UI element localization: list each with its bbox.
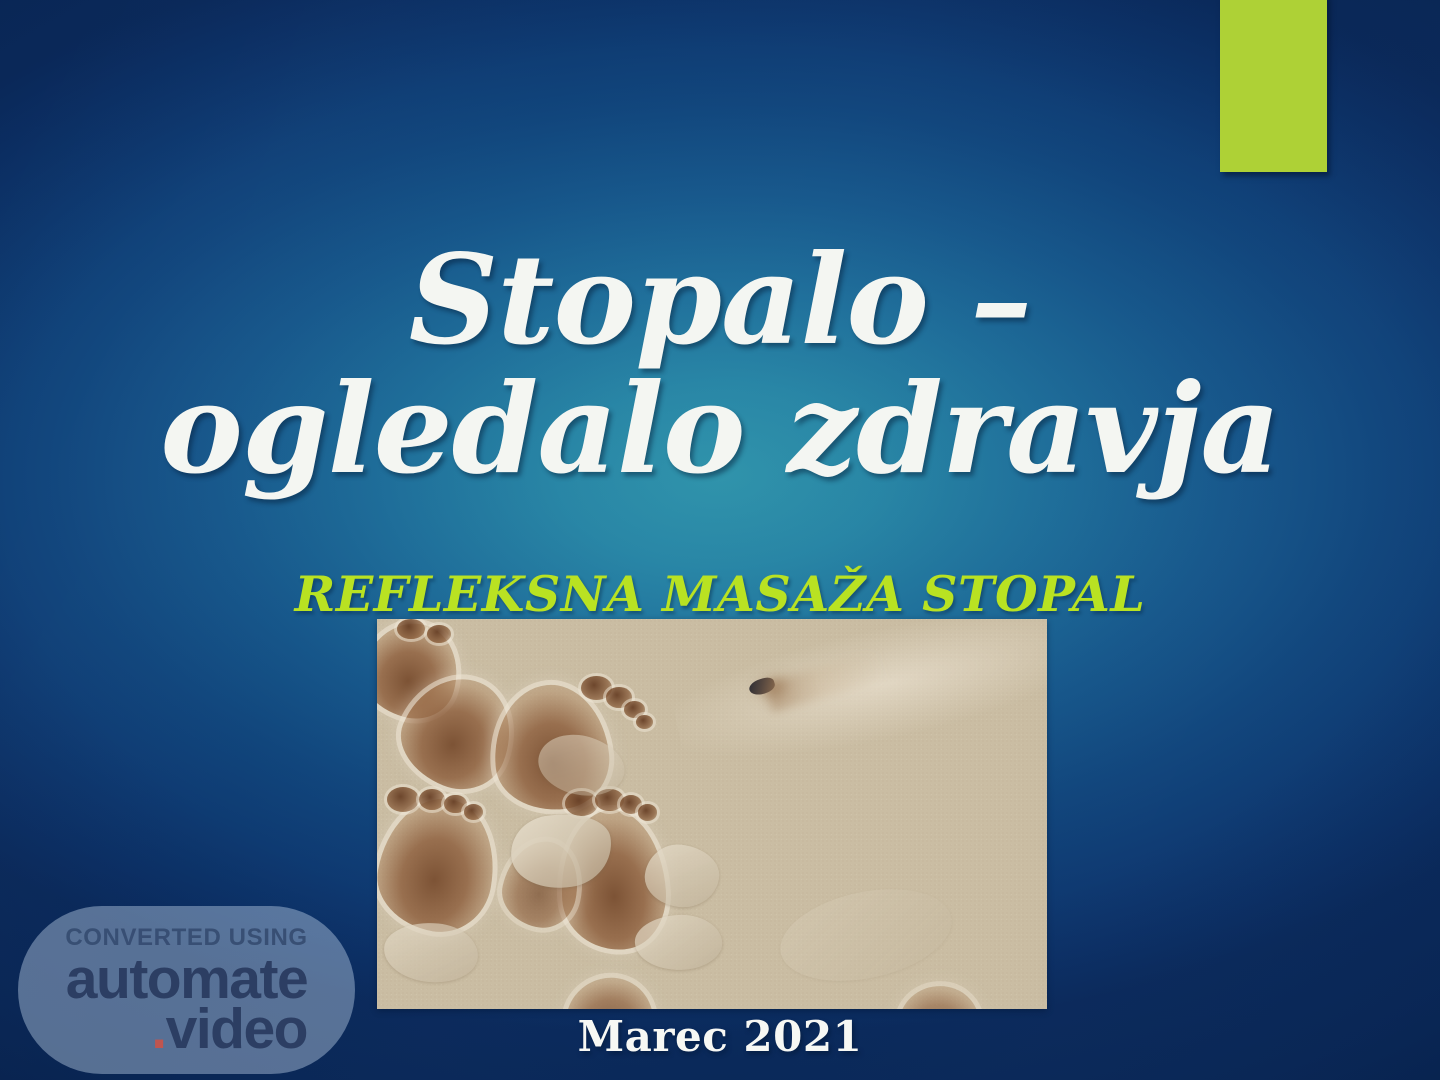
slide-title-line-1: Stopalo – — [0, 240, 1440, 363]
footprints-in-sand-photo — [377, 619, 1047, 1009]
automate-video-watermark: CONVERTED USING automate .video — [18, 906, 355, 1074]
footprint-toe — [427, 625, 451, 643]
watermark-kicker: CONVERTED USING — [65, 924, 307, 952]
footprint-toe — [638, 804, 657, 820]
slide-title-line-2: ogledalo zdravja — [0, 369, 1440, 492]
watermark-tld-label: video — [166, 997, 307, 1061]
watermark-dot: . — [151, 997, 165, 1061]
slide-title: Stopalo – ogledalo zdravja — [0, 240, 1440, 492]
slide-subtitle: REFLEKSNA MASAŽA STOPAL — [0, 565, 1440, 623]
footprint-toe — [636, 715, 653, 729]
green-accent-block — [1220, 0, 1327, 172]
footprint-toe — [387, 787, 419, 812]
footprint-toe — [464, 804, 483, 820]
presentation-slide: Stopalo – ogledalo zdravja REFLEKSNA MAS… — [0, 0, 1440, 1080]
watermark-tld: .video — [151, 1002, 307, 1056]
